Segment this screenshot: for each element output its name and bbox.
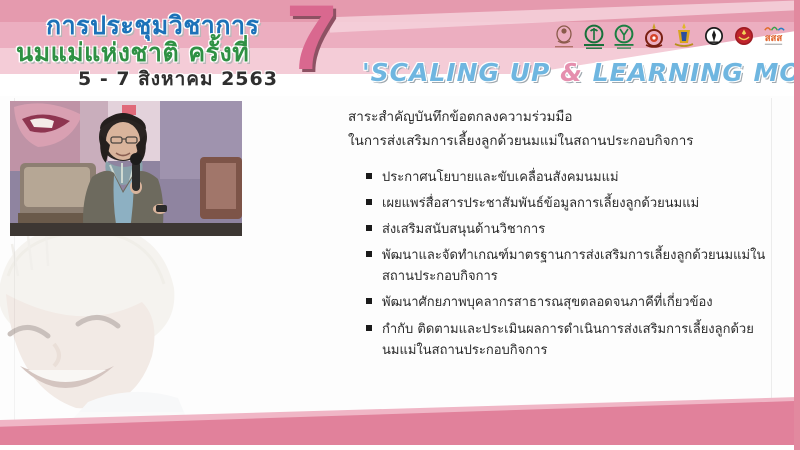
agreement-bullet-list: ประกาศนโยบายและขับเคลื่อนสังคมนมแม่ เผยแ… bbox=[348, 167, 768, 360]
logo-ministry-of-labour-icon bbox=[671, 22, 696, 52]
list-item: พัฒนาศักยภาพบุคลากรสาธารณสุขตลอดจนภาคีที… bbox=[366, 292, 768, 313]
slide-body: สาระสำคัญบันทึกข้อตกลงความร่วมมือ ในการส… bbox=[0, 96, 794, 445]
subtitle-ampersand: & bbox=[560, 58, 583, 87]
logo-department-of-health-icon bbox=[611, 22, 636, 52]
logo-ministry-of-public-health-icon bbox=[581, 22, 606, 52]
logo-thaihealth-sss-icon: สสส bbox=[761, 22, 786, 52]
slide-title-line-1: สาระสำคัญบันทึกข้อตกลงความร่วมมือ bbox=[348, 106, 768, 130]
logo-thai-breastfeeding-foundation-icon bbox=[551, 22, 576, 52]
logo-university-seal-icon bbox=[701, 22, 726, 52]
logo-royal-crest-red-icon bbox=[731, 22, 756, 52]
list-item: กำกับ ติดตามและประเมินผลการดำเนินการส่งเ… bbox=[366, 319, 768, 361]
list-item: ส่งเสริมสนับสนุนด้านวิชาการ bbox=[366, 219, 768, 240]
list-item: เผยแพร่สื่อสารประชาสัมพันธ์ข้อมูลการเลี้… bbox=[366, 193, 768, 214]
slide-stage: การประชุมวิชาการ นมแม่แห่งชาติ ครั้งที่ … bbox=[0, 0, 800, 450]
smiling-child-photo bbox=[0, 216, 262, 431]
frame-right-edge bbox=[794, 0, 800, 450]
subtitle-part-open: 'SCALING UP bbox=[362, 58, 560, 87]
conference-edition-number: 7 bbox=[286, 0, 337, 84]
conference-subtitle: 'SCALING UP & LEARNING MORE' bbox=[362, 58, 800, 87]
slide-content: สาระสำคัญบันทึกข้อตกลงความร่วมมือ ในการส… bbox=[348, 106, 768, 366]
conference-date: 5 - 7 สิงหาคม 2563 bbox=[78, 64, 278, 94]
sponsor-logo-strip: สสส bbox=[551, 22, 786, 52]
speaker-video-feed[interactable] bbox=[10, 101, 242, 236]
list-item: ประกาศนโยบายและขับเคลื่อนสังคมนมแม่ bbox=[366, 167, 768, 188]
presentation-header-banner: การประชุมวิชาการ นมแม่แห่งชาติ ครั้งที่ … bbox=[0, 0, 800, 96]
svg-text:สสส: สสส bbox=[765, 33, 783, 44]
slide-title-line-2: ในการส่งเสริมการเลี้ยงลูกด้วยนมแม่ในสถาน… bbox=[348, 130, 768, 154]
subtitle-part-close: LEARNING MORE' bbox=[583, 58, 800, 87]
logo-royal-emblem-icon bbox=[641, 22, 666, 52]
list-item: พัฒนาและจัดทำเกณฑ์มาตรฐานการส่งเสริมการเ… bbox=[366, 245, 768, 287]
